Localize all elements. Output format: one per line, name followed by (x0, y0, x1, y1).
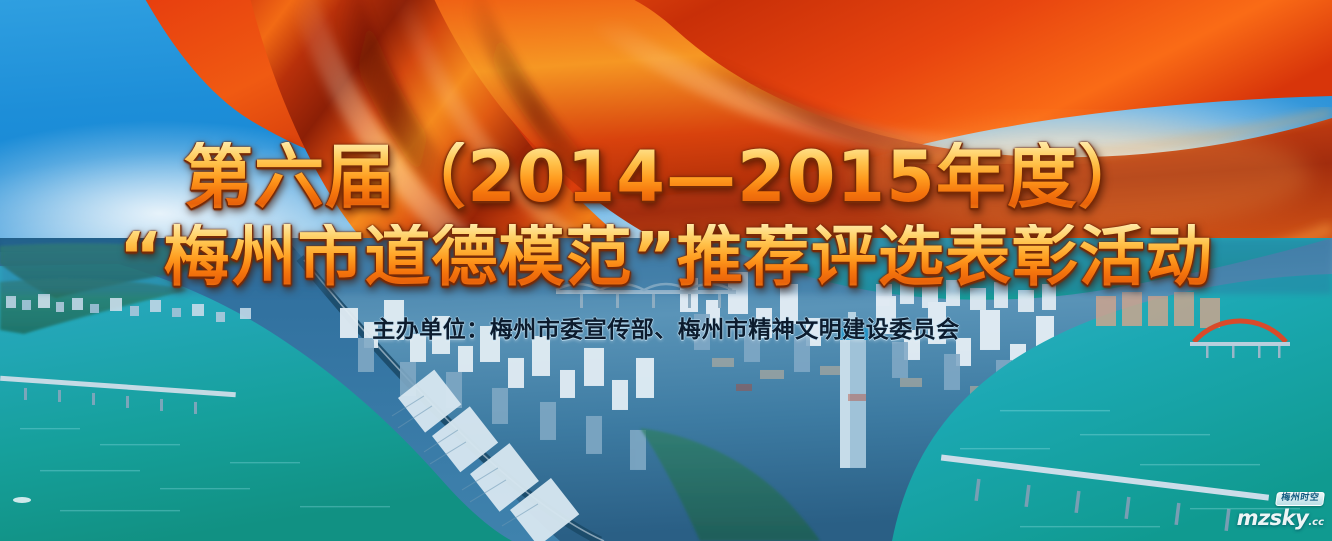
banner-text-block: 第六届（2014—2015年度） “梅州市道德模范”推荐评选表彰活动 主办单位：… (0, 142, 1332, 344)
site-watermark[interactable]: 梅州时空 mzsky.cc (1228, 485, 1324, 529)
watermark-badge-label: 梅州时空 (1275, 492, 1325, 506)
event-title-line-2: “梅州市道德模范”推荐评选表彰活动 (0, 224, 1332, 290)
watermark-domain: mzsky.cc (1228, 508, 1324, 529)
event-title-line-1: 第六届（2014—2015年度） (0, 142, 1332, 212)
watermark-domain-name: mzsky (1237, 506, 1309, 530)
organizers-subtitle: 主办单位：梅州市委宣传部、梅州市精神文明建设委员会 (0, 310, 1332, 344)
watermark-domain-tld: .cc (1308, 517, 1324, 528)
event-banner: 第六届（2014—2015年度） “梅州市道德模范”推荐评选表彰活动 主办单位：… (0, 0, 1332, 541)
